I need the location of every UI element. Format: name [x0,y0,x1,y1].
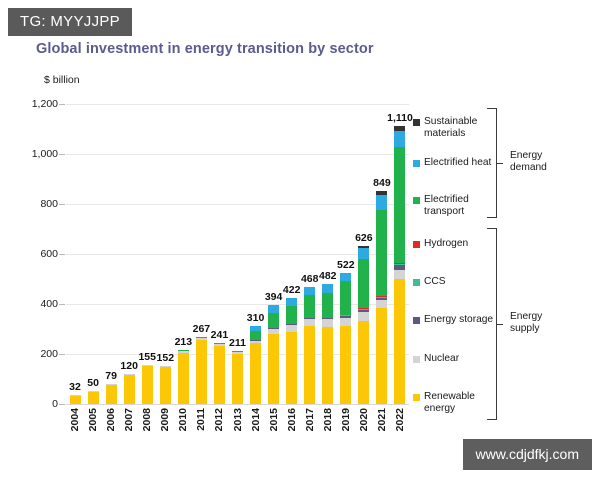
y-axis-tick-label: 1,000 [14,148,58,160]
y-axis-unit-label: $ billion [44,74,80,86]
bar-segment [124,375,135,404]
legend-color-swatch [413,241,420,248]
bar-value-label: 152 [157,352,175,364]
bar-segment [286,332,297,404]
bar-column[interactable]: 152 [160,366,171,404]
bar-segment [340,273,351,281]
bar-column[interactable]: 482 [322,284,333,405]
x-axis-tick-label: 2013 [232,408,244,431]
y-axis-tick-label: 0 [14,398,58,410]
x-axis-tick-label: 2017 [304,408,316,431]
bar-column[interactable]: 849 [376,191,387,405]
bar-segment [322,284,333,293]
bar-segment [304,326,315,404]
bar-value-label: 32 [69,381,81,393]
y-axis-tick [59,354,65,355]
x-axis-tick-label: 2005 [87,408,99,431]
x-axis-tick-label: 2018 [322,408,334,431]
bar-segment [88,392,99,404]
x-axis-tick-label: 2010 [177,408,189,431]
bar-column[interactable]: 422 [286,298,297,404]
bar-value-label: 422 [283,284,301,296]
legend-item-label: Energy storage [424,314,493,326]
bar-segment [286,298,297,306]
bar-value-label: 310 [247,312,265,324]
bar-column[interactable]: 394 [268,305,279,404]
bar-column[interactable]: 155 [142,365,153,404]
bar-segment [304,295,315,318]
legend-color-swatch [413,197,420,204]
legend-item-label: Hydrogen [424,238,468,250]
bar-column[interactable]: 79 [106,384,117,404]
group-bracket-nub [496,163,503,164]
bar-segment [286,306,297,324]
bar-column[interactable]: 468 [304,287,315,404]
bar-segment [358,259,369,309]
bar-segment [394,131,405,147]
bar-column[interactable]: 310 [250,326,261,404]
x-axis-tick-label: 2022 [394,408,406,431]
legend-color-swatch [413,356,420,363]
bar-segment [178,353,189,405]
site-watermark: www.cdjdfkj.com [463,439,592,470]
legend-item-label: Electrified heat [424,157,491,169]
x-axis-tick-label: 2020 [358,408,370,431]
legend-color-swatch [413,317,420,324]
bar-value-label: 120 [120,360,138,372]
legend-item[interactable]: Nuclear [413,353,459,365]
bar-segment [232,354,243,405]
bar-segment [304,287,315,295]
legend-color-swatch [413,160,420,167]
bar-segment [322,293,333,319]
x-axis-tick-label: 2019 [340,408,352,431]
bar-column[interactable]: 32 [70,395,81,404]
bar-segment [286,325,297,332]
bar-column[interactable]: 120 [124,374,135,404]
y-axis-tick [59,154,65,155]
bar-value-label: 241 [211,329,229,341]
bar-segment [376,300,387,308]
bar-value-label: 394 [265,291,283,303]
bar-segment [340,326,351,405]
bar-segment [268,313,279,328]
legend-color-swatch [413,119,420,126]
x-axis-tick-label: 2015 [268,408,280,431]
y-axis-tick [59,254,65,255]
bar-segment [358,312,369,321]
group-bracket-nub [496,324,503,325]
bar-segment [250,331,261,340]
page-title: Global investment in energy transition b… [36,41,374,57]
bar-column[interactable]: 267 [196,337,207,405]
bar-segment [394,147,405,264]
x-axis-tick-label: 2011 [195,408,207,431]
bar-segment [340,318,351,326]
x-axis-tick-label: 2016 [286,408,298,431]
group-label: Energysupply [510,311,542,335]
legend-item-label: CCS [424,276,446,288]
x-axis-tick-label: 2009 [159,408,171,431]
legend-item[interactable]: Hydrogen [413,238,468,250]
tg-watermark-tag: TG: MYYJJPP [8,8,132,36]
x-axis-tick-label: 2014 [250,408,262,431]
bar-value-label: 267 [193,323,211,335]
legend-item[interactable]: CCS [413,276,446,288]
bar-value-label: 213 [175,336,193,348]
bar-column[interactable]: 211 [232,351,243,405]
bar-value-label: 849 [373,177,391,189]
bar-segment [304,319,315,326]
bar-column[interactable]: 50 [88,391,99,404]
bar-segment [340,281,351,315]
bar-segment [70,396,81,404]
x-axis-tick-label: 2004 [69,408,81,431]
bar-segment [142,366,153,404]
bar-series-group: 3250791201551522132672412113103944224684… [66,104,409,404]
bar-segment [358,248,369,259]
bar-segment [160,367,171,404]
chart-container: Global investment in energy transition b… [0,0,600,480]
y-axis-tick [59,304,65,305]
bar-segment [358,321,369,404]
bar-segment [106,385,117,404]
y-axis-tick-label: 200 [14,348,58,360]
bar-value-label: 79 [105,370,117,382]
legend-item[interactable]: Electrified heat [413,157,491,169]
bar-segment [268,305,279,313]
y-axis-tick-label: 1,200 [14,98,58,110]
bar-segment [394,279,405,404]
x-axis-tick-label: 2012 [213,408,225,431]
legend-item[interactable]: Energy storage [413,314,493,326]
bar-value-label: 50 [87,377,99,389]
bar-segment [214,346,225,404]
bar-column[interactable]: 522 [340,273,351,404]
bar-value-label: 468 [301,273,319,285]
gridline [66,404,409,405]
group-label: Energydemand [510,150,547,174]
legend-color-swatch [413,394,420,401]
bar-column[interactable]: 1,110 [394,126,405,404]
bar-column[interactable]: 213 [178,350,189,404]
x-axis-tick-label: 2008 [141,408,153,431]
plot-area: 02004006008001,0001,200 3250791201551522… [66,104,409,404]
bar-segment [196,340,207,405]
y-axis-tick [59,204,65,205]
bar-value-label: 482 [319,270,337,282]
bar-value-label: 211 [229,337,246,349]
group-bracket [487,108,497,218]
bar-segment [376,308,387,404]
bar-segment [322,319,333,327]
legend-color-swatch [413,279,420,286]
y-axis-tick-label: 400 [14,298,58,310]
bar-column[interactable]: 626 [358,246,369,404]
bar-segment [394,270,405,279]
y-axis-tick [59,104,65,105]
group-bracket [487,228,497,420]
y-axis-tick-label: 600 [14,248,58,260]
bar-column[interactable]: 241 [214,343,225,404]
bar-segment [376,210,387,296]
bar-value-label: 1,110 [387,112,413,124]
bar-segment [250,343,261,404]
y-axis-tick [59,404,65,405]
bar-value-label: 155 [138,351,156,363]
bar-value-label: 626 [355,232,373,244]
bar-value-label: 522 [337,259,355,271]
y-axis-tick-label: 800 [14,198,58,210]
legend-item-label: Nuclear [424,353,459,365]
x-axis-tick-label: 2021 [376,408,388,431]
bar-segment [376,195,387,210]
bar-segment [322,327,333,405]
x-axis-tick-label: 2007 [123,408,135,431]
bar-segment [268,334,279,404]
x-axis-tick-label: 2006 [105,408,117,431]
